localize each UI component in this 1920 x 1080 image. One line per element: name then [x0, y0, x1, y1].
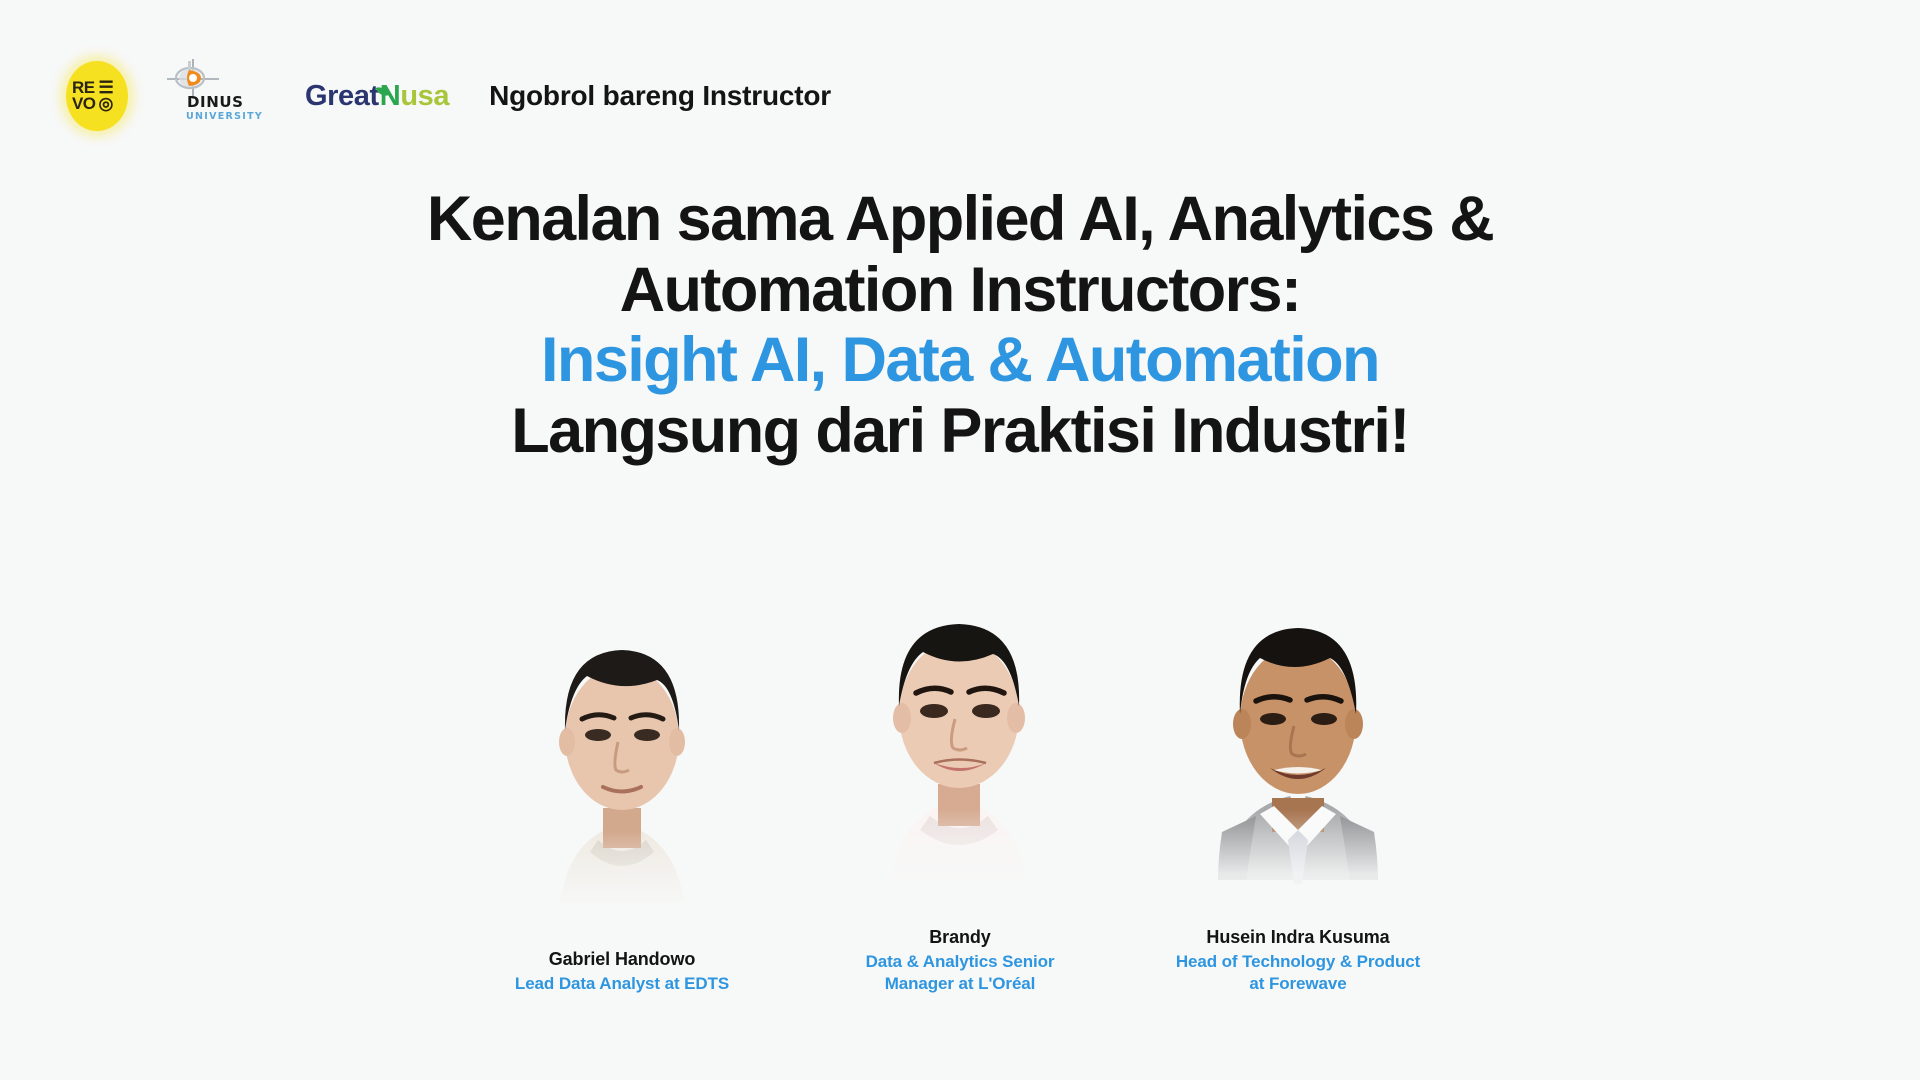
- speaker-role-1: Lead Data Analyst at EDTS: [515, 973, 729, 995]
- greatnusa-logo: GreatNusa: [305, 80, 449, 113]
- revo-logo: RE ☰ VO ◎: [66, 61, 128, 131]
- headline-line-1: Kenalan sama Applied AI, Analytics &: [180, 184, 1740, 255]
- speaker-name-3: Husein Indra Kusuma: [1176, 926, 1420, 949]
- speaker-photo-2: [810, 580, 1110, 920]
- headline-line-2: Automation Instructors:: [180, 255, 1740, 326]
- header-logo-row: RE ☰ VO ◎ DINUS UNIVERSITY GreatNusa Ngo…: [66, 54, 831, 138]
- photo-fade-overlay-1: [472, 832, 772, 942]
- speaker-name-2: Brandy: [866, 926, 1055, 949]
- speaker-caption-1: Gabriel Handowo Lead Data Analyst at EDT…: [515, 948, 729, 995]
- revo-logo-line2: VO: [72, 97, 96, 111]
- speaker-role-2-line-2: Manager at L'Oréal: [866, 973, 1055, 995]
- speaker-name-1: Gabriel Handowo: [515, 948, 729, 971]
- speaker-role-2: Data & Analytics Senior Manager at L'Oré…: [866, 951, 1055, 995]
- speaker-card-2: Brandy Data & Analytics Senior Manager a…: [810, 580, 1110, 995]
- photo-fade-overlay-3: [1148, 810, 1448, 920]
- speaker-role-2-line-1: Data & Analytics Senior: [866, 951, 1055, 973]
- presentation-slide: RE ☰ VO ◎ DINUS UNIVERSITY GreatNusa Ngo…: [0, 0, 1920, 1080]
- headline-line-3-highlight: Insight AI, Data & Automation: [180, 325, 1740, 396]
- speaker-card-1: Gabriel Handowo Lead Data Analyst at EDT…: [472, 602, 772, 995]
- speaker-photo-3: [1148, 580, 1448, 920]
- speaker-role-1-line-1: Lead Data Analyst at EDTS: [515, 973, 729, 995]
- greatnusa-part-usa: usa: [400, 80, 449, 112]
- dinus-subtitle: UNIVERSITY: [186, 111, 263, 122]
- speaker-list: Gabriel Handowo Lead Data Analyst at EDT…: [0, 580, 1920, 995]
- dinus-university-logo: DINUS UNIVERSITY: [161, 59, 269, 133]
- greatnusa-part-great: Great: [305, 80, 379, 112]
- header-title: Ngobrol bareng Instructor: [489, 80, 831, 112]
- speaker-photo-1: [472, 602, 772, 942]
- revo-logo-dot: ◎: [99, 97, 123, 111]
- dinus-wordmark: DINUS: [187, 93, 244, 111]
- headline-line-4: Langsung dari Praktisi Industri!: [180, 396, 1740, 467]
- speaker-caption-2: Brandy Data & Analytics Senior Manager a…: [866, 926, 1055, 995]
- revo-wordmark: RE ☰ VO ◎: [72, 81, 122, 111]
- speaker-role-3-line-2: at Forewave: [1176, 973, 1420, 995]
- speaker-caption-3: Husein Indra Kusuma Head of Technology &…: [1176, 926, 1420, 995]
- headline-block: Kenalan sama Applied AI, Analytics & Aut…: [0, 184, 1920, 466]
- speaker-role-3: Head of Technology & Product at Forewave: [1176, 951, 1420, 995]
- photo-fade-overlay-2: [810, 810, 1110, 920]
- speaker-role-3-line-1: Head of Technology & Product: [1176, 951, 1420, 973]
- speaker-card-3: Husein Indra Kusuma Head of Technology &…: [1148, 580, 1448, 995]
